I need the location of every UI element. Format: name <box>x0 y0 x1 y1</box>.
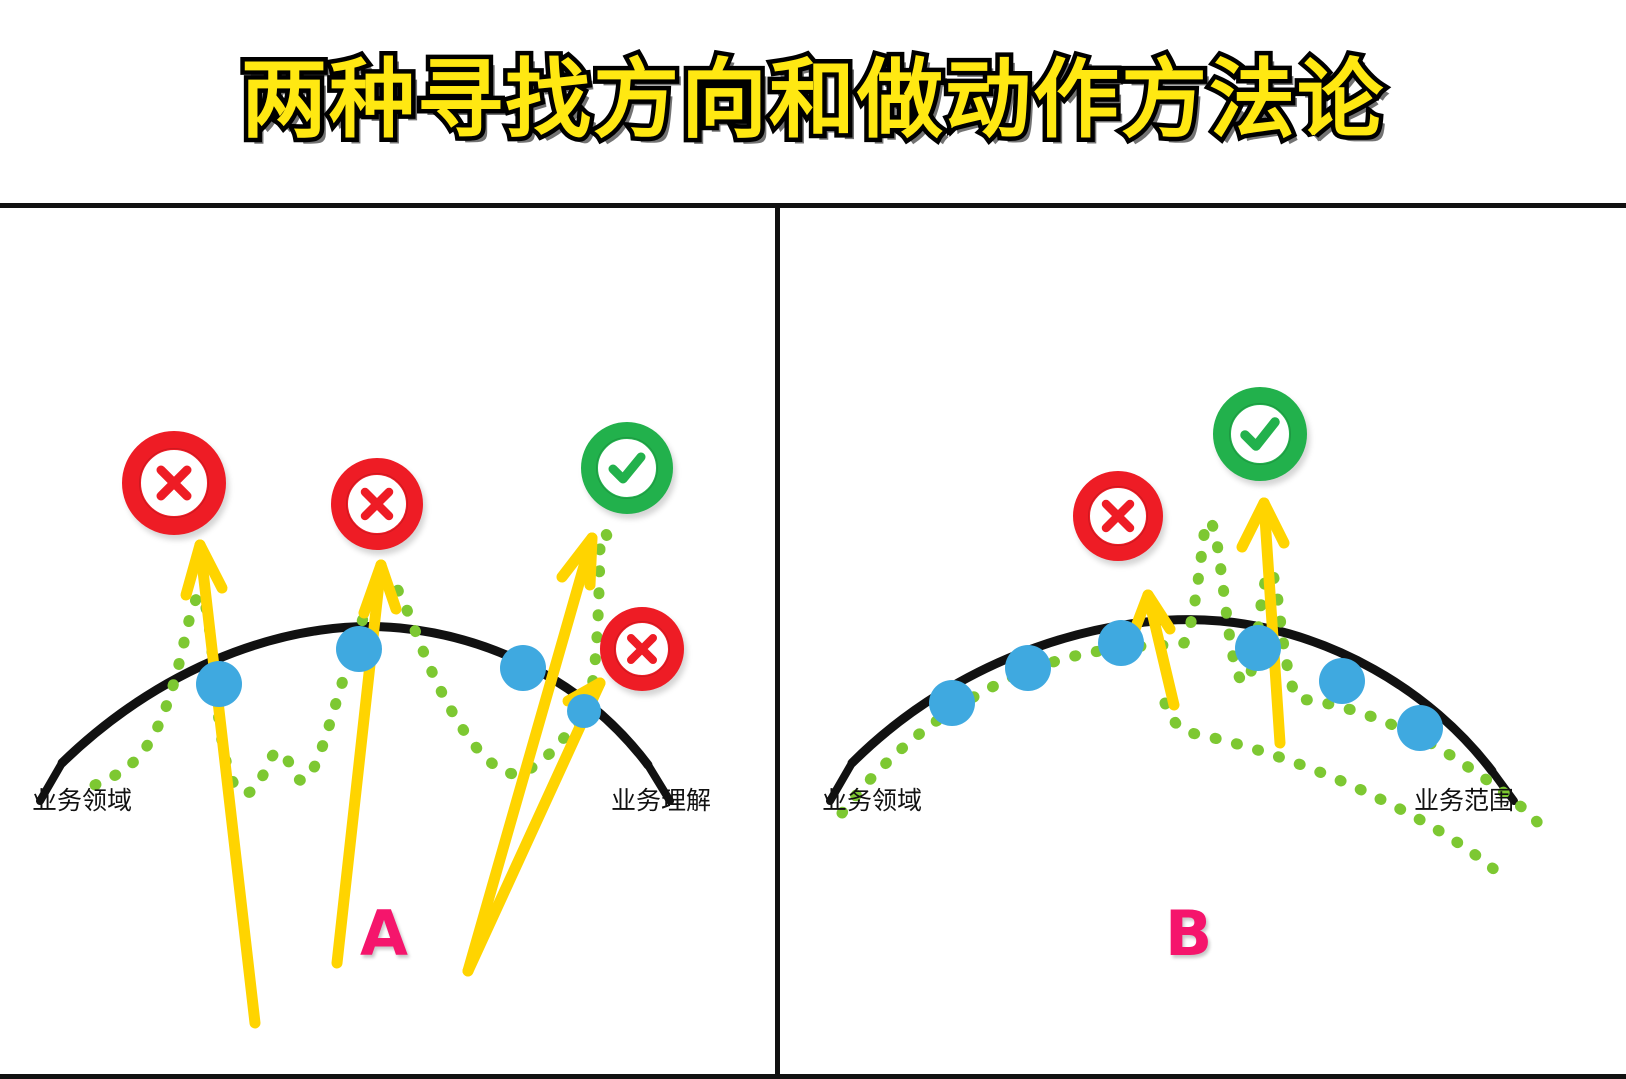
panel-b: 业务领域 业务范围 B <box>780 203 1626 1079</box>
page-title: 两种寻找方向和做动作方法论 <box>241 57 1385 143</box>
status-badge-cross <box>600 607 684 691</box>
node-dot-icon <box>1235 625 1281 671</box>
status-badge-cross <box>331 458 423 550</box>
yellow-arrow-icon <box>186 545 255 1023</box>
node-dot-icon <box>567 694 601 728</box>
status-badge-check <box>581 422 673 514</box>
status-badge-check <box>1213 387 1307 481</box>
green-dotted-path-icon <box>842 521 1540 825</box>
status-badge-cross <box>1073 471 1163 561</box>
check-mark-icon <box>603 446 651 490</box>
node-dot-icon <box>1319 658 1365 704</box>
node-dot-icon <box>929 680 975 726</box>
curve-end-label: 业务范围 <box>1414 788 1514 813</box>
curve-start-label: 业务领域 <box>822 788 922 813</box>
check-mark-icon <box>1235 411 1285 457</box>
curve-end-label: 业务理解 <box>611 788 711 813</box>
title-bar: 两种寻找方向和做动作方法论 <box>0 0 1626 200</box>
cross-mark-icon <box>151 460 197 506</box>
node-dot-icon <box>1397 705 1443 751</box>
status-badge-cross <box>122 431 226 535</box>
node-dot-icon <box>1005 645 1051 691</box>
panel-letter-a: A <box>360 903 408 965</box>
panels-container: 业务领域 业务理解 A <box>0 203 1626 1079</box>
node-dot-icon <box>196 661 242 707</box>
cross-mark-icon <box>1097 495 1139 537</box>
cross-mark-icon <box>622 629 662 669</box>
node-dot-icon <box>336 626 382 672</box>
panel-letter-b: B <box>1165 903 1212 965</box>
cross-mark-icon <box>356 483 398 525</box>
yellow-arrow-icon <box>468 538 592 971</box>
panel-a: 业务领域 业务理解 A <box>0 203 775 1079</box>
node-dot-icon <box>500 645 546 691</box>
node-dot-icon <box>1098 620 1144 666</box>
curve-start-label: 业务领域 <box>32 788 132 813</box>
